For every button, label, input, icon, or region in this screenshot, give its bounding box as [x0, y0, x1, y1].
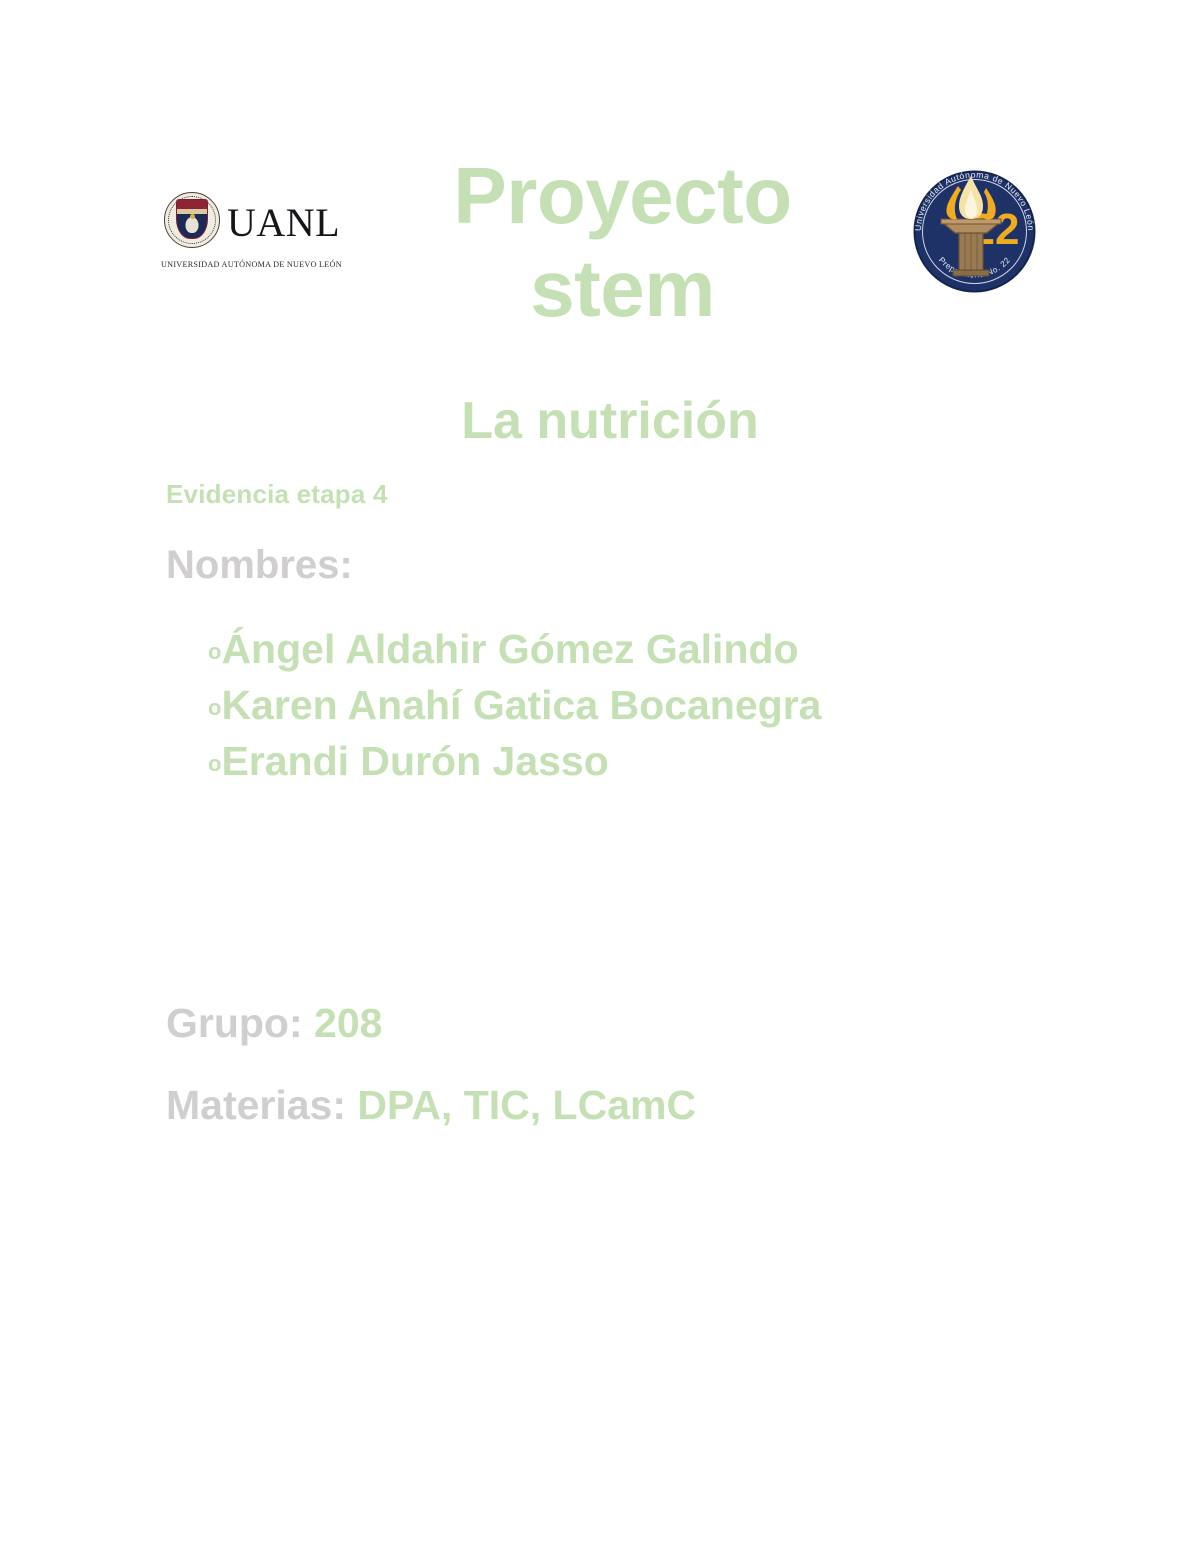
list-item: oKaren Anahí Gatica Bocanegra	[208, 678, 948, 732]
document-page: UANL UNIVERSIDAD AUTÓNOMA DE NUEVO LEÓN …	[0, 0, 1200, 1553]
bullet-icon: o	[208, 751, 221, 776]
title-line-2: stem	[370, 243, 875, 336]
grupo-value: 208	[314, 1000, 382, 1046]
names-heading: Nombres:	[166, 543, 353, 587]
bullet-icon: o	[208, 639, 221, 664]
uanl-tagline: UNIVERSIDAD AUTÓNOMA DE NUEVO LEÓN	[161, 260, 366, 269]
cover-header: UANL UNIVERSIDAD AUTÓNOMA DE NUEVO LEÓN …	[0, 150, 1200, 355]
materias-label: Materias:	[166, 1082, 357, 1128]
student-name: Ángel Aldahir Gómez Galindo	[221, 626, 798, 672]
grupo-label: Grupo:	[166, 1000, 314, 1046]
student-name: Erandi Durón Jasso	[221, 738, 608, 784]
student-name: Karen Anahí Gatica Bocanegra	[221, 682, 821, 728]
names-list: oÁngel Aldahir Gómez Galindo oKaren Anah…	[208, 622, 948, 790]
materias-value: DPA, TIC, LCamC	[357, 1082, 696, 1128]
page-title: Proyecto stem	[370, 150, 875, 336]
list-item: oÁngel Aldahir Gómez Galindo	[208, 622, 948, 676]
bullet-icon: o	[208, 695, 221, 720]
uanl-wordmark: UANL	[227, 203, 340, 243]
grupo-line: Grupo: 208	[166, 1000, 382, 1047]
document-subtitle: La nutrición	[170, 392, 1050, 452]
evidence-stage-label: Evidencia etapa 4	[166, 479, 388, 510]
uanl-logo: UANL UNIVERSIDAD AUTÓNOMA DE NUEVO LEÓN	[161, 190, 366, 280]
uanl-crest-icon	[161, 190, 223, 256]
title-line-1: Proyecto	[370, 150, 875, 243]
torch-seal-icon: Universidad Autónoma de Nuevo León Prepa…	[903, 160, 1046, 303]
list-item: oErandi Durón Jasso	[208, 734, 948, 788]
materias-line: Materias: DPA, TIC, LCamC	[166, 1082, 696, 1129]
